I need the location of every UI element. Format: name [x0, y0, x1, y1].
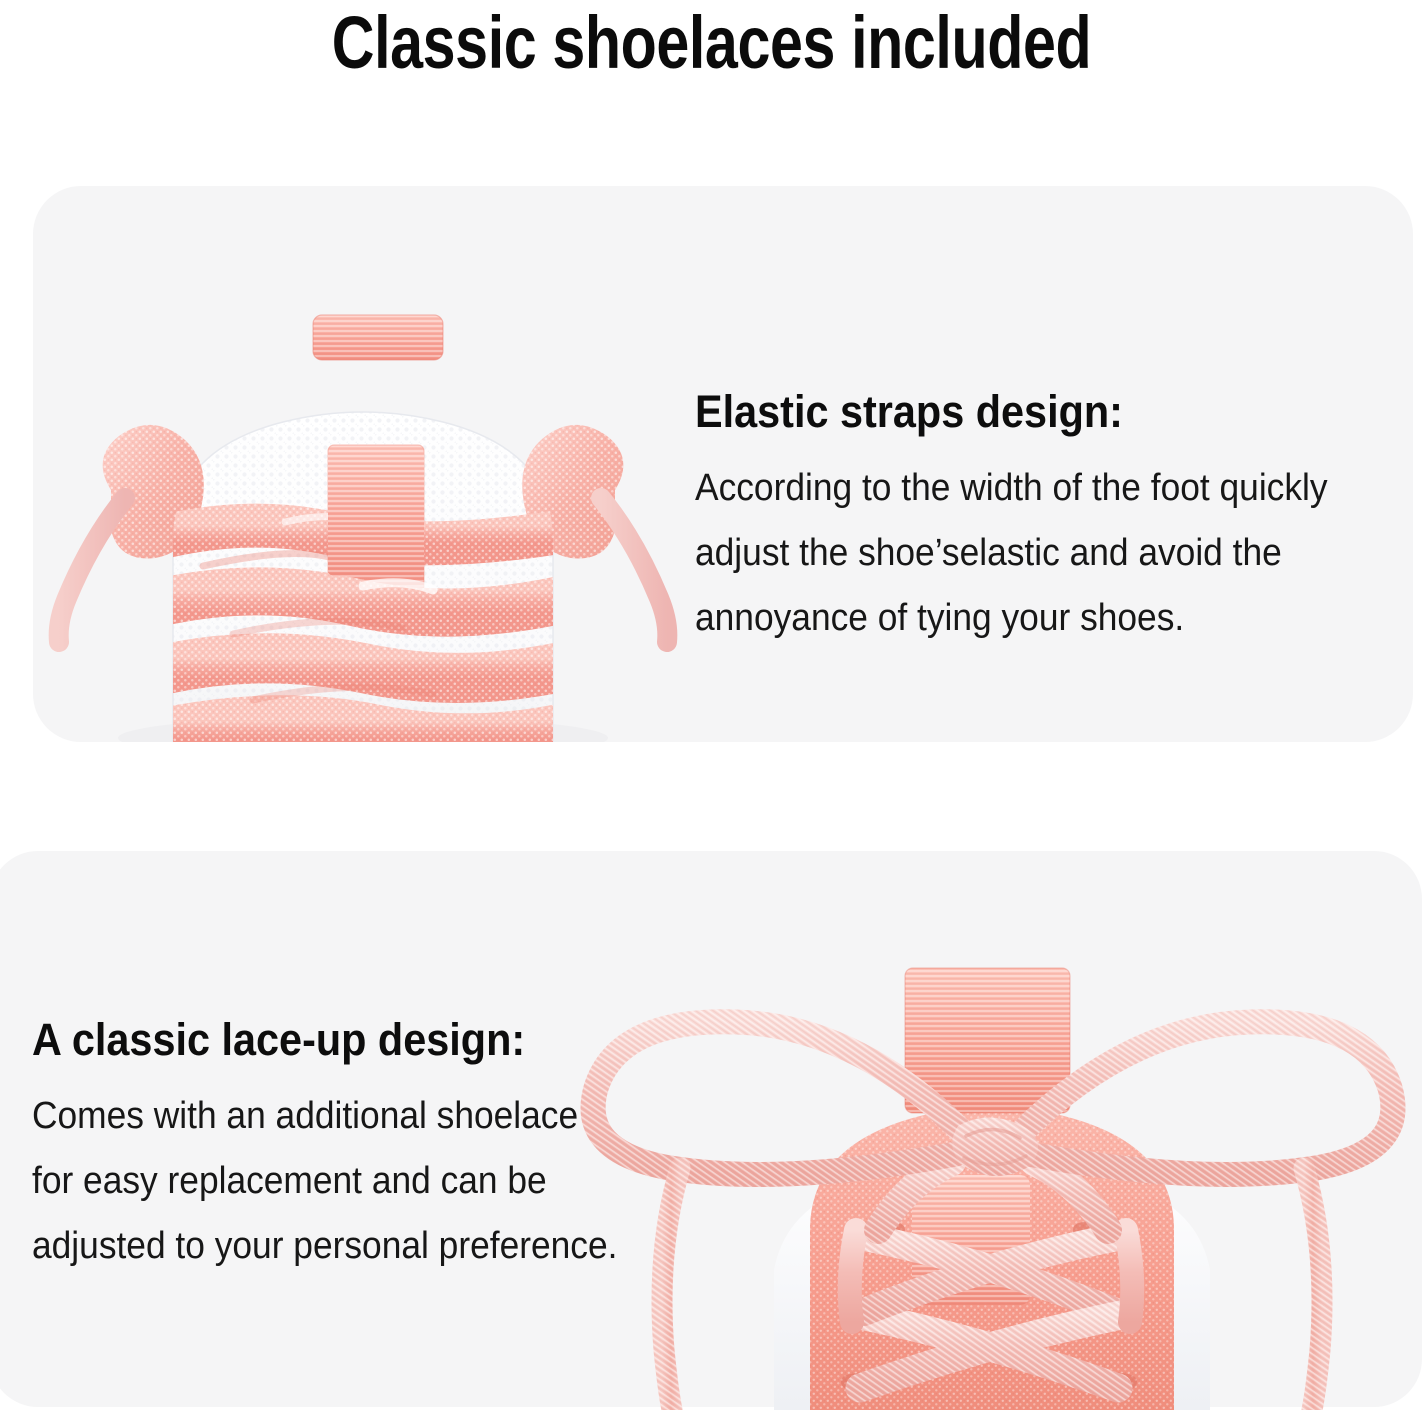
feature-text-classic-lace-up: A classic lace-up design: Comes with an … [32, 1014, 632, 1279]
feature-body-line: According to the width of the foot quick… [695, 456, 1346, 521]
feature-body-elastic-straps: According to the width of the foot quick… [695, 456, 1346, 651]
feature-body-line: adjusted to your personal preference. [32, 1214, 590, 1279]
feature-body-line: annoyance of tying your shoes. [695, 586, 1346, 651]
feature-heading-elastic-straps: Elastic straps design: [695, 386, 1339, 438]
left-lace-end [59, 498, 125, 642]
heel-pull-tab [313, 315, 443, 360]
page-title: Classic shoelaces included [142, 0, 1280, 86]
elastic-strap-sneaker-svg [33, 290, 693, 742]
feature-body-line: for easy replacement and can be [32, 1149, 590, 1214]
feature-body-line: Comes with an additional shoelace [32, 1084, 590, 1149]
right-bow-loop [1016, 1022, 1393, 1175]
elastic-strap-sneaker-image [33, 290, 693, 742]
right-lace-end [601, 498, 667, 642]
feature-body-classic-lace-up: Comes with an additional shoelace for ea… [32, 1084, 590, 1279]
center-ribbon-strap-overlay [328, 448, 424, 576]
laced-sneaker-image [560, 930, 1423, 1410]
feature-heading-classic-lace-up: A classic lace-up design: [32, 1014, 584, 1066]
feature-body-line: adjust the shoe’selastic and avoid the [695, 521, 1346, 586]
feature-text-elastic-straps: Elastic straps design: According to the … [695, 386, 1395, 651]
laced-sneaker-svg [560, 930, 1423, 1410]
